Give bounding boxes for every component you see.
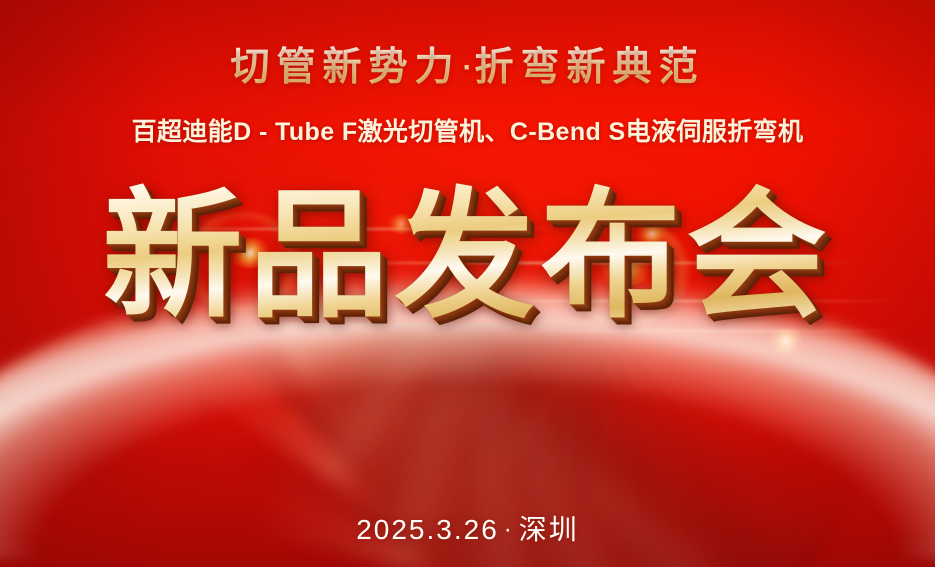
poster-title-part-1: 切管新势力 [230,46,460,89]
headline-gold-text: 新品发布会 新品发布会 [102,186,832,326]
poster-title-part-2: 折弯新典范 [475,46,705,89]
headline-container: 新品发布会 新品发布会 [0,186,935,366]
title-separator-dot: · [461,51,475,84]
poster-subtitle: 百超迪能D - Tube F激光切管机、C-Bend S电液伺服折弯机 [0,112,935,148]
headline-face: 新品发布会 [102,174,832,338]
date-separator-dot: · [499,516,519,543]
event-date-location: 2025.3.26·深圳 [0,508,935,548]
event-date: 2025.3.26 [356,514,499,545]
event-location: 深圳 [519,514,579,545]
promotional-banner: 切管新势力·折弯新典范 百超迪能D - Tube F激光切管机、C-Bend S… [0,0,935,567]
poster-title: 切管新势力·折弯新典范 [0,45,935,91]
